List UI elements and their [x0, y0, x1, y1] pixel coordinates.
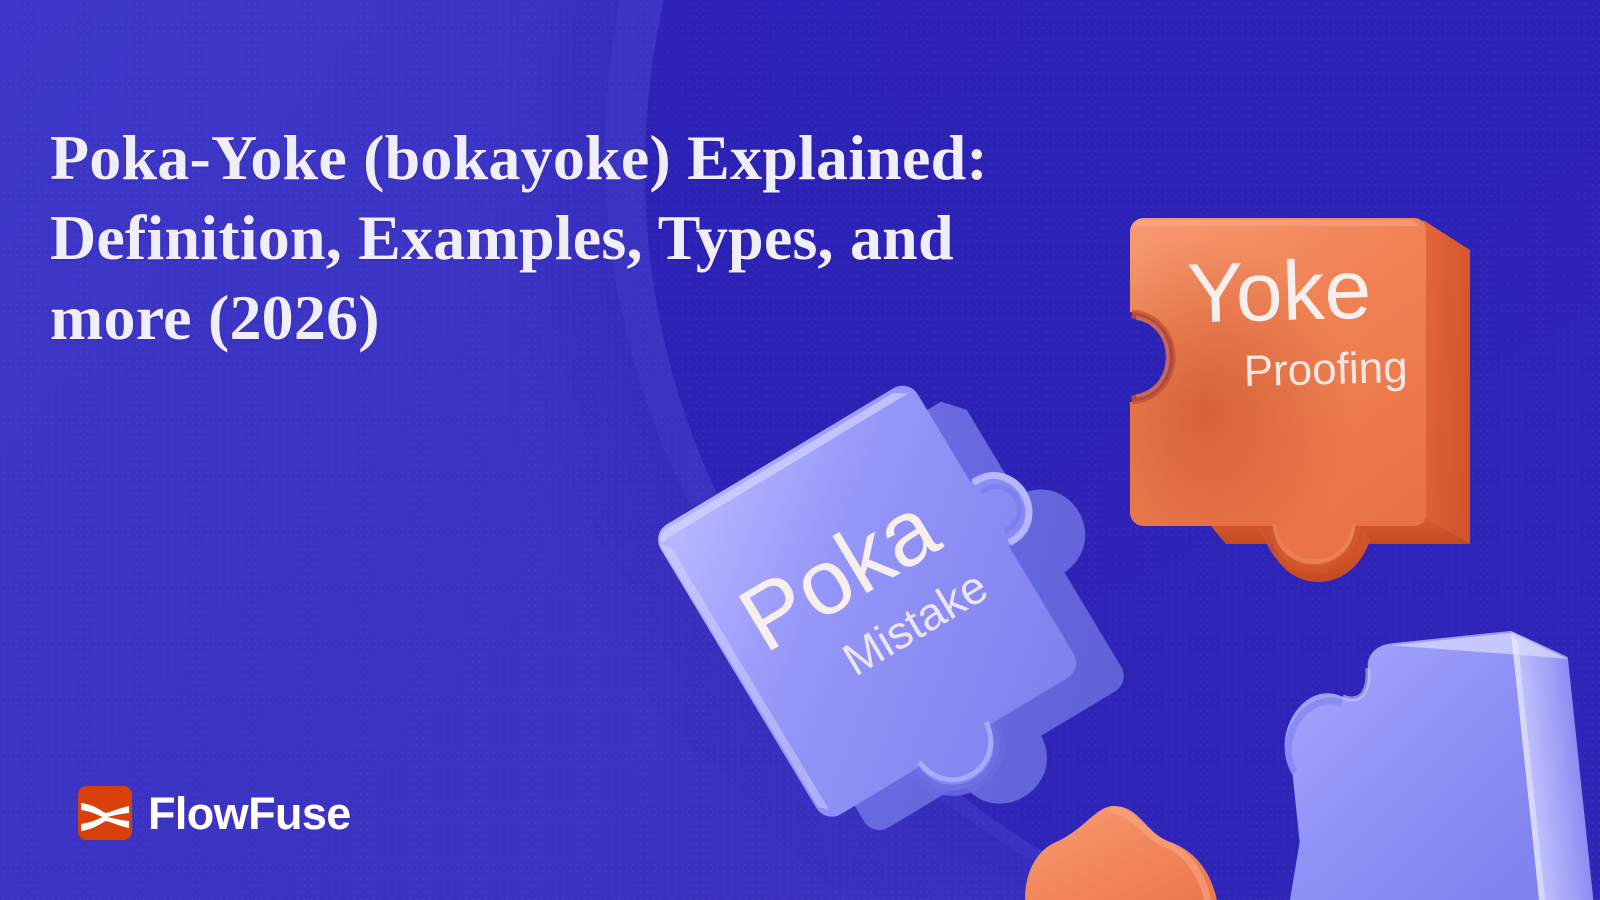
- puzzle-piece-yoke: Yoke Proofing: [1108, 188, 1538, 588]
- puzzle-piece-poka: Poka Mistake: [676, 378, 1146, 858]
- flowfuse-mark-icon: [78, 786, 132, 840]
- banner-hero: Yoke Proofing: [0, 0, 1600, 900]
- flowfuse-logo[interactable]: FlowFuse: [78, 786, 351, 840]
- flowfuse-wordmark: FlowFuse: [148, 791, 351, 836]
- title-line-1: Poka-Yoke (bokayoke) Explained:: [50, 122, 988, 193]
- title-line-2: Definition, Examples, Types, and: [50, 202, 954, 273]
- puzzle-piece-blue-corner: [1280, 630, 1600, 900]
- title-line-3: more (2026): [50, 282, 380, 353]
- page-title: Poka-Yoke (bokayoke) Explained: Definiti…: [50, 118, 1110, 358]
- piece-yoke-subtitle: Proofing: [1243, 343, 1408, 396]
- piece-yoke-title: Yoke: [1186, 242, 1372, 341]
